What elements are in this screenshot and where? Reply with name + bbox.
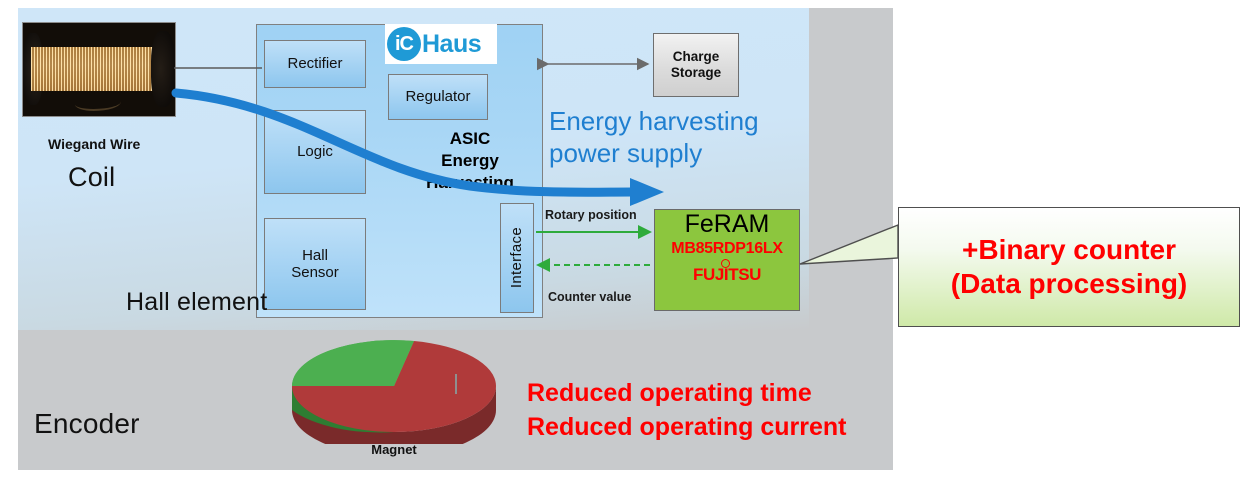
charge-storage-label: Charge Storage xyxy=(671,49,721,81)
block-regulator[interactable]: Regulator xyxy=(388,74,488,120)
block-interface-label: Interface xyxy=(508,227,525,288)
energy-harvesting-note: Energy harvesting power supply xyxy=(549,106,839,169)
feram-block[interactable]: FeRAM MB85RDP16LX FUJITSU xyxy=(654,209,800,311)
benefit-line-1: Reduced operating time xyxy=(527,377,847,411)
signal-label-counter-value: Counter value xyxy=(548,290,631,304)
block-rectifier-label: Rectifier xyxy=(287,55,342,72)
encoder-label: Encoder xyxy=(34,408,140,440)
fujitsu-logo: FUJITSU xyxy=(693,265,761,285)
block-interface[interactable]: Interface xyxy=(500,203,534,313)
coil-winding xyxy=(31,47,167,91)
block-rectifier[interactable]: Rectifier xyxy=(264,40,366,88)
block-hall-sensor[interactable]: Hall Sensor xyxy=(264,218,366,310)
asic-caption: ASIC Energy Harvesting xyxy=(404,128,536,193)
magnet-label: Magnet xyxy=(286,442,502,457)
ic-haus-logo: iC Haus xyxy=(385,24,497,64)
feram-part-number: MB85RDP16LX xyxy=(671,240,782,258)
callout-line-1: +Binary counter xyxy=(951,233,1188,267)
asic-caption-line-1: ASIC xyxy=(404,128,536,150)
block-hall-sensor-label: Hall Sensor xyxy=(291,247,339,282)
coil-label: Coil xyxy=(68,162,115,193)
block-logic[interactable]: Logic xyxy=(264,110,366,194)
diagram-canvas: Wiegand Wire Coil Rectifier Logic Hall S… xyxy=(0,0,1249,477)
hall-line-1: Hall xyxy=(302,247,328,264)
feram-title: FeRAM xyxy=(685,212,770,237)
coil-core-right xyxy=(151,31,175,107)
hall-element-label: Hall element xyxy=(126,288,267,317)
asic-caption-line-3: Harvesting xyxy=(404,172,536,194)
fujitsu-dot-icon xyxy=(721,259,730,268)
block-logic-label: Logic xyxy=(297,143,333,160)
benefits-note: Reduced operating time Reduced operating… xyxy=(527,377,847,444)
signal-label-rotary-position: Rotary position xyxy=(545,208,637,222)
magnet-top-north-2 xyxy=(292,340,414,386)
magnet-pie-chart: Magnet xyxy=(286,324,502,454)
block-regulator-label: Regulator xyxy=(405,88,470,105)
fujitsu-wordmark: FUJITSU xyxy=(693,265,761,284)
wiegand-wire-caption: Wiegand Wire xyxy=(48,136,140,152)
binary-counter-callout: +Binary counter (Data processing) xyxy=(898,207,1240,327)
benefit-line-2: Reduced operating current xyxy=(527,411,847,445)
ic-haus-mark: iC xyxy=(395,34,413,54)
wiegand-coil-photo xyxy=(22,22,176,117)
ic-haus-circle-icon: iC xyxy=(387,27,421,61)
energy-harvesting-line-2: power supply xyxy=(549,138,839,170)
coil-lead-wire xyxy=(75,95,121,111)
asic-caption-line-2: Energy xyxy=(404,150,536,172)
energy-harvesting-line-1: Energy harvesting xyxy=(549,106,839,138)
binary-counter-callout-text: +Binary counter (Data processing) xyxy=(951,233,1188,301)
charge-storage-box[interactable]: Charge Storage xyxy=(653,33,739,97)
hall-line-2: Sensor xyxy=(291,264,339,281)
charge-line-1: Charge xyxy=(673,49,720,64)
charge-line-2: Storage xyxy=(671,65,721,80)
callout-line-2: (Data processing) xyxy=(951,267,1188,301)
ic-haus-wordmark: Haus xyxy=(422,30,481,59)
magnet-pie-svg xyxy=(286,324,502,444)
